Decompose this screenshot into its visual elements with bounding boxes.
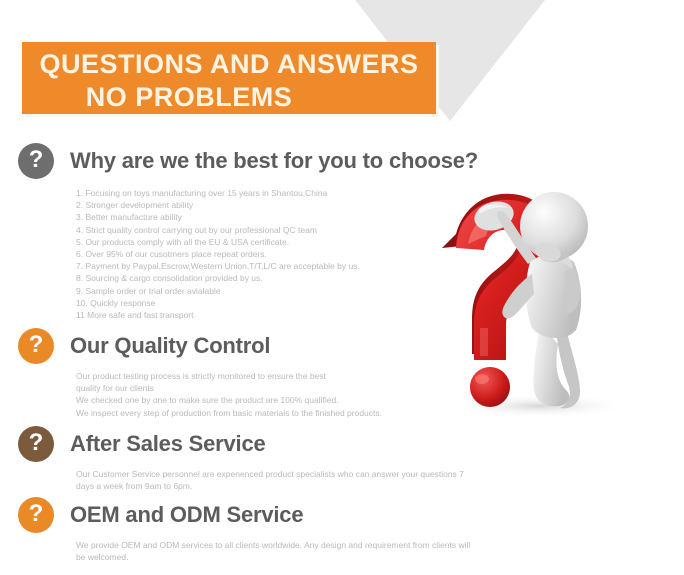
- section-body: 1. Focusing on toys manufacturing over 1…: [76, 187, 578, 321]
- section-title: Why are we the best for you to choose?: [70, 148, 478, 174]
- body-line: quality for our clients: [76, 382, 488, 394]
- section-why-best: ? Why are we the best for you to choose?…: [18, 143, 578, 321]
- question-mark-glyph: ?: [29, 431, 44, 455]
- section-oem-odm-service: ? OEM and ODM Service We provide OEM and…: [18, 497, 578, 563]
- body-line: Our product testing process is strictly …: [76, 370, 488, 382]
- list-item: 9. Sample order or trial order avialable: [76, 285, 578, 297]
- list-item: 5. Our products comply with all the EU &…: [76, 236, 578, 248]
- section-after-sales-service: ? After Sales Service Our Customer Servi…: [18, 426, 578, 492]
- list-item: 1. Focusing on toys manufacturing over 1…: [76, 187, 578, 199]
- section-title: After Sales Service: [70, 431, 266, 457]
- section-body: Our product testing process is strictly …: [76, 370, 488, 419]
- body-line: Our Customer Service personnel are expen…: [76, 468, 578, 480]
- qa-infographic-page: QUESTIONS AND ANSWERS NO PROBLEMS: [0, 0, 684, 575]
- list-item: 11 More safe and fast transport: [76, 309, 578, 321]
- body-line: be welcomed.: [76, 551, 578, 563]
- section-header: ? Our Quality Control: [18, 328, 488, 364]
- question-mark-glyph: ?: [29, 333, 44, 357]
- question-mark-icon: ?: [18, 497, 54, 533]
- section-body: We provide OEM and ODM services to all c…: [76, 539, 578, 563]
- section-title: Our Quality Control: [70, 333, 270, 359]
- question-mark-icon: ?: [18, 143, 54, 179]
- list-item: 10. Quickly response: [76, 297, 578, 309]
- section-header: ? Why are we the best for you to choose?: [18, 143, 578, 179]
- section-header: ? OEM and ODM Service: [18, 497, 578, 533]
- list-item: 6. Over 95% of our cusotmers place repea…: [76, 248, 578, 260]
- list-item: 2. Stronger development ability: [76, 199, 578, 211]
- body-line: We provide OEM and ODM services to all c…: [76, 539, 578, 551]
- question-mark-glyph: ?: [29, 502, 44, 526]
- list-item: 4. Strict quality control carrying out b…: [76, 224, 578, 236]
- header-banner: QUESTIONS AND ANSWERS NO PROBLEMS: [22, 42, 436, 114]
- body-line: days a week from 9am to 6pm.: [76, 480, 578, 492]
- section-header: ? After Sales Service: [18, 426, 578, 462]
- body-line: We inspect every step of production from…: [76, 407, 488, 419]
- body-line: We checked one by one to make sure the p…: [76, 394, 488, 406]
- question-mark-icon: ?: [18, 328, 54, 364]
- banner-title-line1: QUESTIONS AND ANSWERS: [22, 42, 436, 81]
- list-item: 3. Better manufacture ability: [76, 211, 578, 223]
- banner-title-line2: NO PROBLEMS: [22, 81, 436, 114]
- section-title: OEM and ODM Service: [70, 502, 303, 528]
- list-item: 7. Payment by Paypal,Escrow,Western Unio…: [76, 260, 578, 272]
- list-item: 8. Sourcing & cargo consolidation provid…: [76, 272, 578, 284]
- question-mark-icon: ?: [18, 426, 54, 462]
- section-body: Our Customer Service personnel are expen…: [76, 468, 578, 492]
- question-mark-glyph: ?: [29, 148, 44, 172]
- section-quality-control: ? Our Quality Control Our product testin…: [18, 328, 488, 419]
